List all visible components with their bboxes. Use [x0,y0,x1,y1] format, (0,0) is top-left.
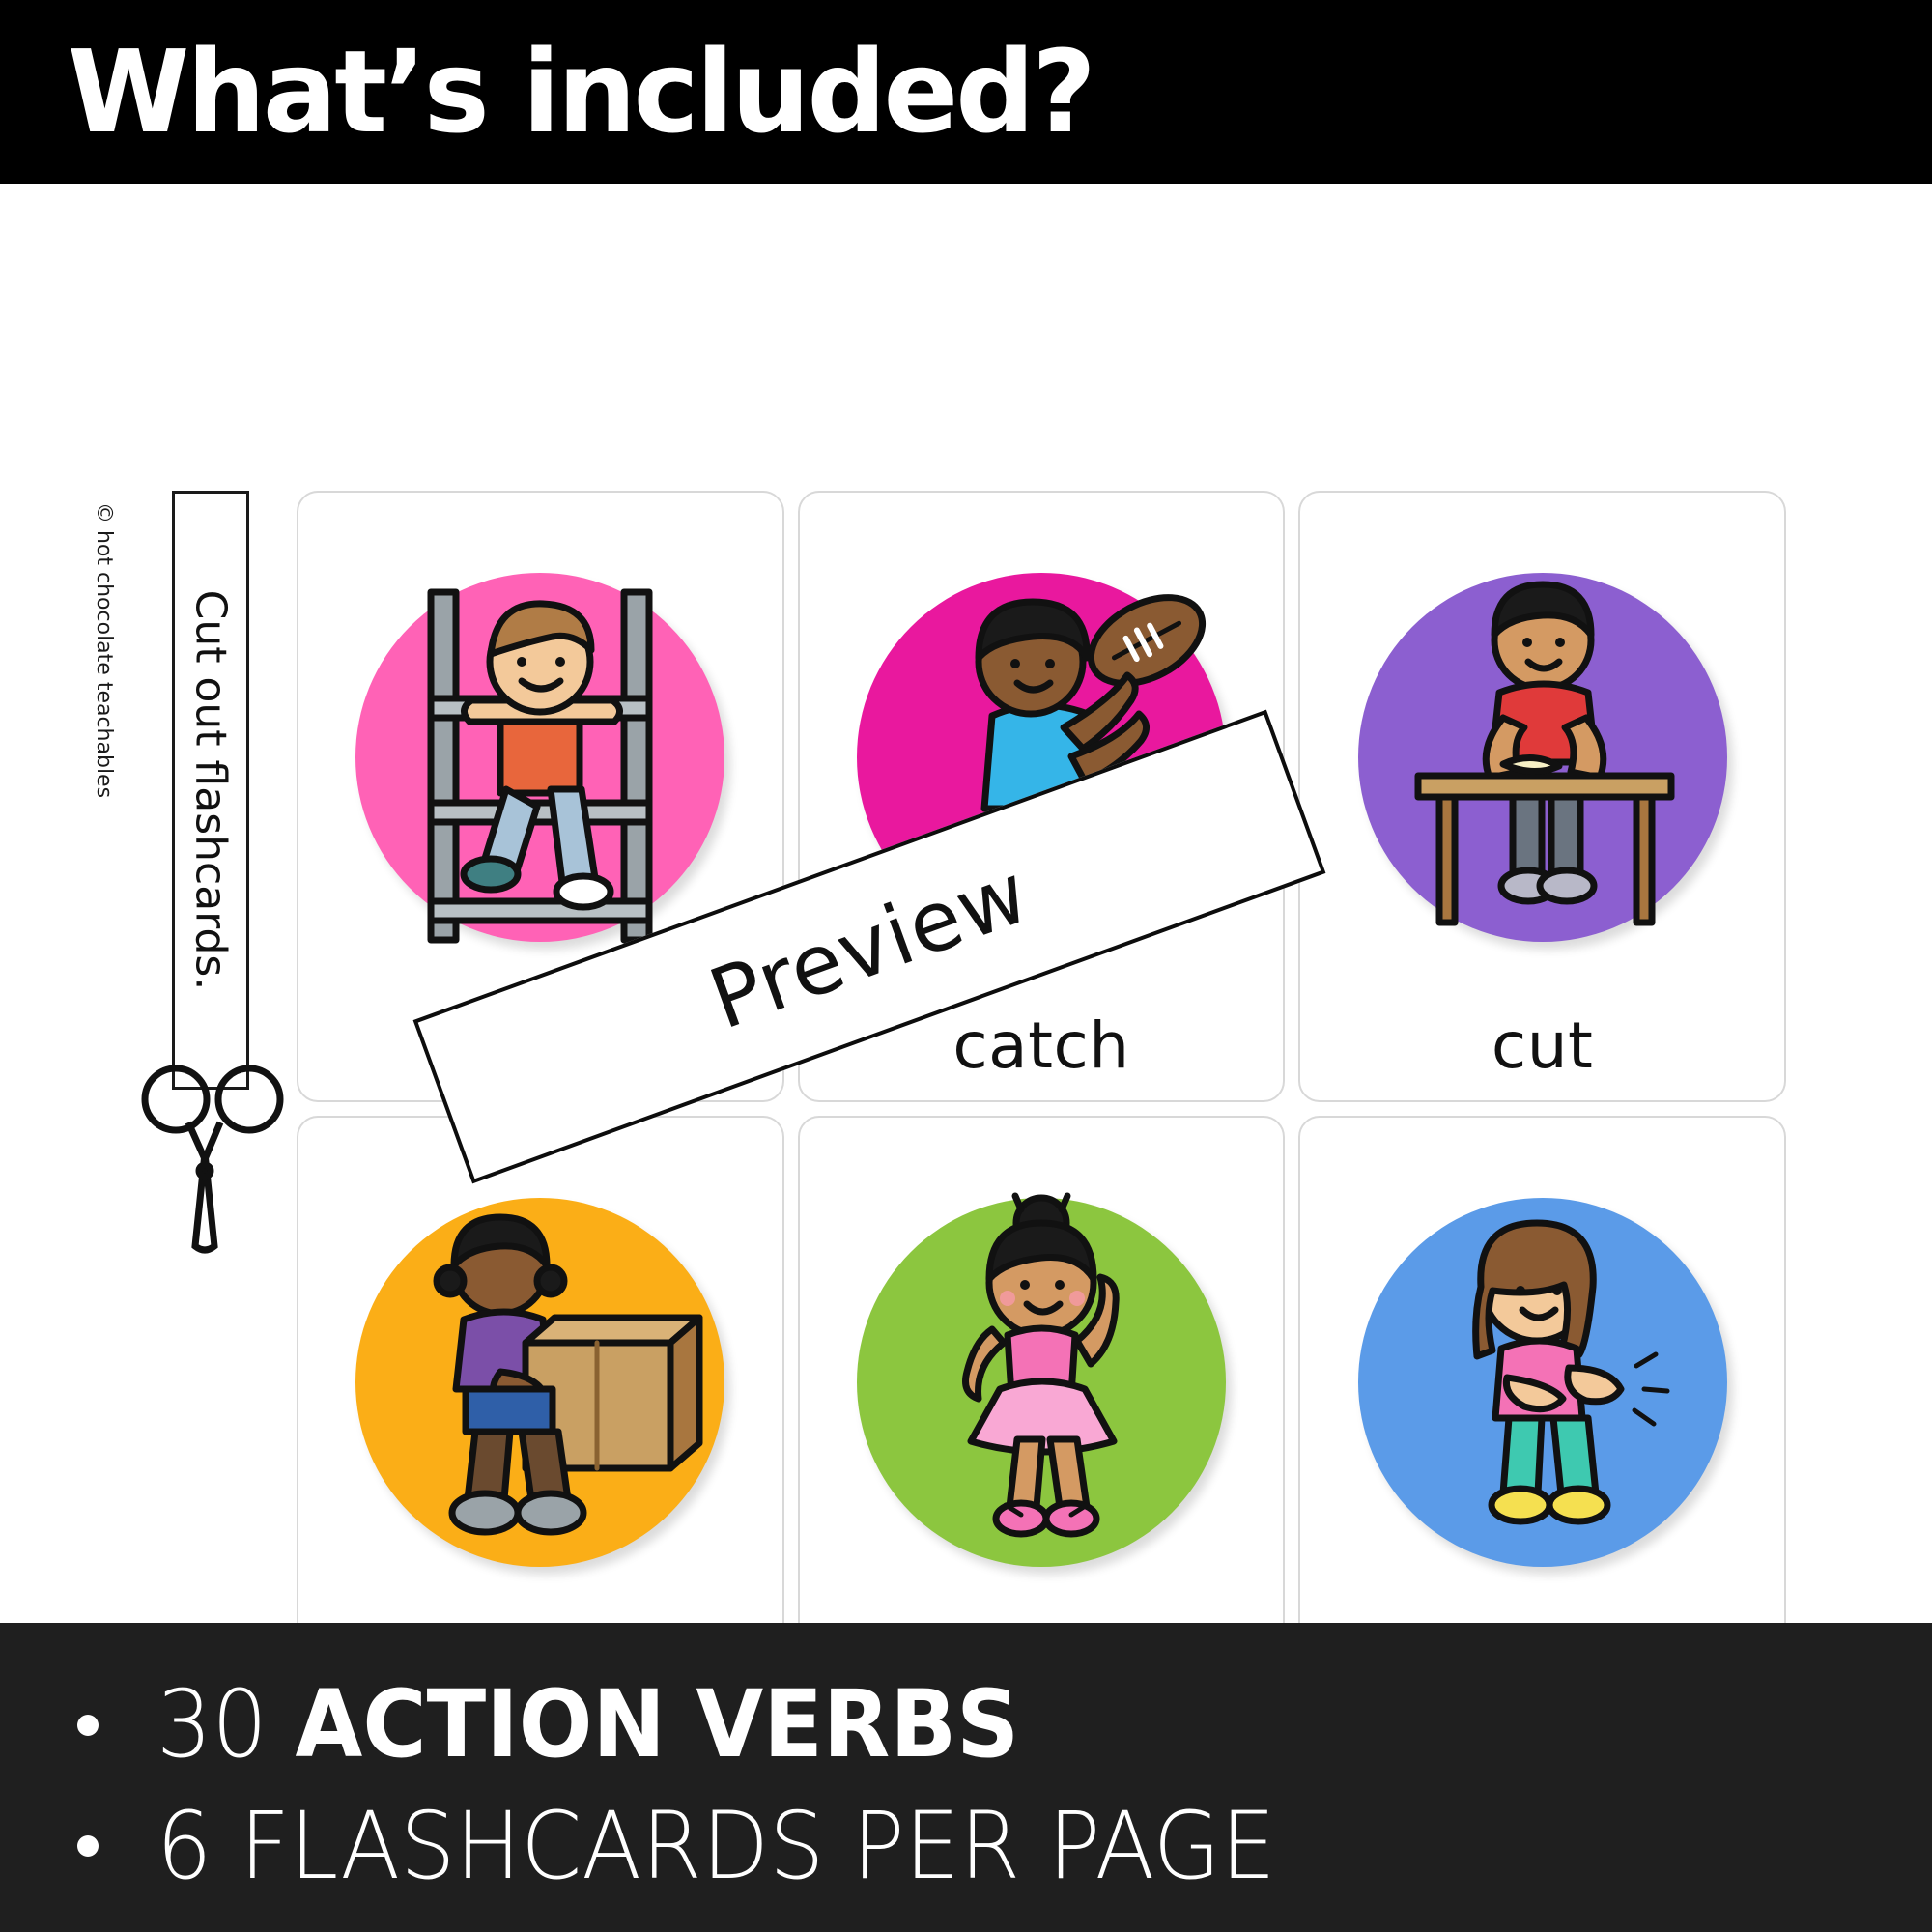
color-circle [355,1198,724,1567]
footer-bullet-2: 6 FLASHCARDS PER PAGE [77,1795,1932,1899]
color-circle [1358,573,1727,942]
footer-bullet-1: 30 ACTION VERBS [77,1673,1932,1777]
figure-boy-cutting-at-table [1358,573,1727,942]
figure-boy-climbing-ladder [355,573,724,942]
footer-bullet-1-bold: ACTION VERBS [296,1670,1020,1778]
footer-bar: 30 ACTION VERBS 6 FLASHCARDS PER PAGE [0,1623,1932,1932]
color-circle [1358,1198,1727,1567]
preview-body: © hot chocolate teachables Cut out flash… [0,184,1932,1623]
flashcard-label: cut [1492,1009,1594,1083]
bullet-dot-icon [77,1715,99,1736]
card-artwork [298,1141,782,1624]
page-title: What’s included? [68,35,1094,149]
footer-bullet-2-text: 6 FLASHCARDS PER PAGE [156,1795,1276,1899]
scissors-icon [135,1053,290,1256]
footer-bullet-1-text: 30 ACTION VERBS [156,1673,1019,1777]
bullet-dot-icon [77,1835,99,1857]
figure-boy-carrying-box [355,1198,724,1567]
flashcard-cut[interactable]: cut [1298,491,1786,1102]
figure-girl-clapping [1358,1198,1727,1567]
footer-bullet-1-number: 30 [156,1670,268,1778]
cut-instruction-label: Cut out flashcards. [186,590,236,991]
card-artwork [1300,516,1784,999]
cut-out-strip: Cut out flashcards. [172,491,249,1090]
card-artwork [800,1141,1284,1624]
copyright-text: © hot chocolate teachables [92,502,116,798]
color-circle [857,1198,1226,1567]
flashcard-label: catch [952,1009,1129,1083]
header-bar: What’s included? [0,0,1932,184]
color-circle [355,573,724,942]
card-artwork [1300,1141,1784,1624]
figure-girl-dancing [857,1198,1226,1567]
